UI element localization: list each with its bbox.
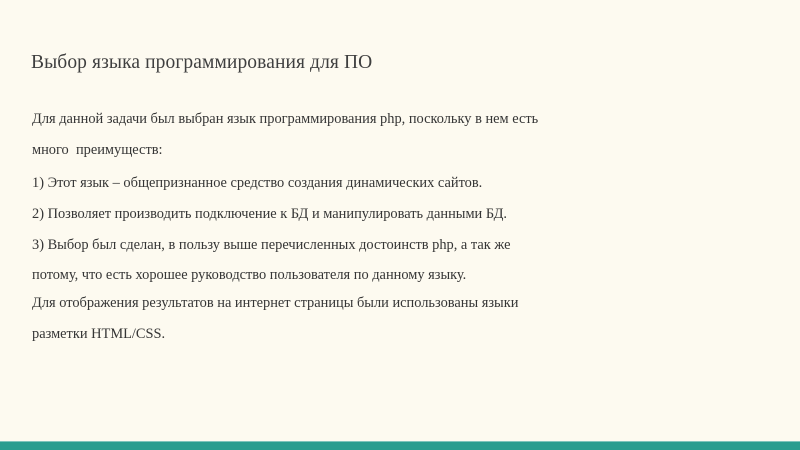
- accent-bar-highlight: [0, 441, 800, 442]
- slide-canvas: Выбор языка программирования для ПО Для …: [0, 0, 800, 450]
- list-item-continuation: потому, что есть хорошее руководство пол…: [32, 260, 774, 291]
- list-item: 2) Позволяет производить подключение к Б…: [32, 199, 774, 230]
- closing-line-2: разметки HTML/CSS.: [32, 319, 774, 350]
- closing-paragraph: Для отображения результатов на интернет …: [32, 288, 774, 350]
- accent-bar: [0, 441, 800, 450]
- list-item: 1) Этот язык – общепризнанное средство с…: [32, 168, 774, 199]
- page-title: Выбор языка программирования для ПО: [31, 50, 751, 76]
- list-item: 3) Выбор был сделан, в пользу выше переч…: [32, 230, 774, 261]
- intro-line-2: много преимуществ:: [32, 135, 774, 166]
- intro-line-1: Для данной задачи был выбран язык програ…: [32, 104, 774, 135]
- intro-paragraph: Для данной задачи был выбран язык програ…: [32, 104, 774, 166]
- closing-line-1: Для отображения результатов на интернет …: [32, 288, 774, 319]
- advantages-list: 1) Этот язык – общепризнанное средство с…: [32, 168, 774, 291]
